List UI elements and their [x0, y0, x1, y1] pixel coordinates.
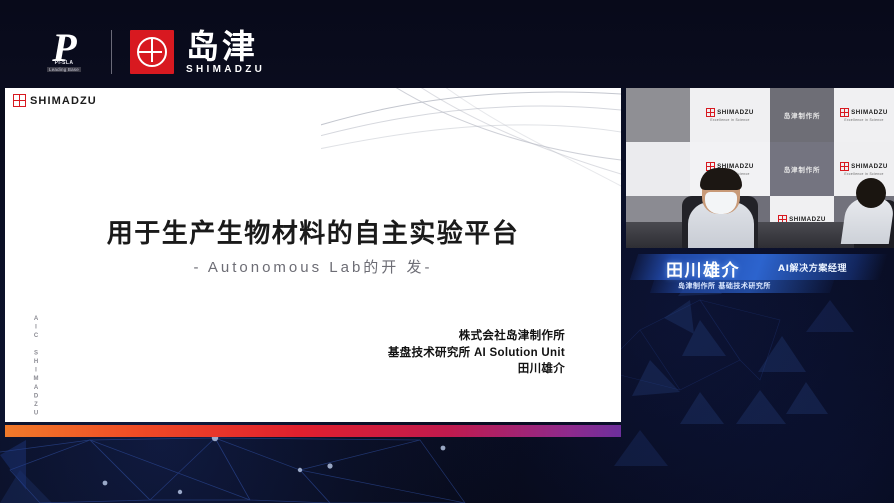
- brand-divider: [111, 30, 112, 74]
- shimadzu-chinese: 岛津: [186, 30, 265, 63]
- slide-title: 用于生产生物材料的自主实验平台: [5, 213, 621, 250]
- slide-subtitle: - Autonomous Lab的开 发-: [5, 256, 621, 277]
- slide-accent-gradient-bar: [5, 425, 621, 437]
- backdrop-logo-sub: Excellence in Science: [844, 118, 883, 122]
- p-logo-sub1: PI-SLA: [55, 60, 74, 66]
- brand-row: P PI-SLA Leading Base 岛津 SHIMADZU: [33, 28, 265, 76]
- backdrop-logo-sub: Excellence in Science: [710, 118, 749, 122]
- backdrop-logo-word: SHIMADZU: [851, 109, 888, 116]
- backdrop-logo-word: SHIMADZU: [717, 109, 754, 116]
- slide-logo-word: SHIMADZU: [30, 95, 97, 107]
- shimadzu-wordmark: 岛津 SHIMADZU: [186, 30, 265, 75]
- attribution-line-2: 基盘技术研究所 AI Solution Unit: [388, 345, 565, 362]
- backdrop-cn-text-2: 岛津制作所: [784, 164, 821, 174]
- speaker-name: 田川雄介: [666, 256, 740, 281]
- speaker-organization: 岛津制作所 基础技术研究所: [678, 281, 771, 291]
- peiking-logo: P PI-SLA Leading Base: [33, 28, 95, 76]
- shimadzu-circle-cross-icon: [130, 30, 174, 74]
- speaker-video-panel[interactable]: SHIMADZU Excellence in Science 岛津制作所 SHI…: [626, 88, 894, 248]
- p-logo-sub2: Leading Base: [47, 67, 81, 72]
- attribution-line-1: 株式会社岛津制作所: [388, 328, 565, 345]
- slide-shimadzu-logo: SHIMADZU: [13, 94, 97, 107]
- speaker-role: AI解决方案经理: [778, 261, 847, 274]
- shimadzu-mark-icon: [13, 94, 26, 107]
- backdrop-logo-word: SHIMADZU: [851, 163, 888, 170]
- shimadzu-english: SHIMADZU: [186, 64, 265, 75]
- attribution-line-3: 田川雄介: [388, 361, 565, 378]
- slide-arc-decoration: [321, 88, 621, 208]
- speaker-nameplate: 田川雄介 AI解决方案经理 岛津制作所 基础技术研究所: [626, 252, 894, 298]
- webinar-stage: P PI-SLA Leading Base 岛津 SHIMADZU: [0, 0, 894, 503]
- speaker-avatar: [688, 170, 754, 248]
- presentation-slide: SHIMADZU AIC SHIMADZU 用于生产生物材料的自主实验平台 - …: [5, 88, 621, 422]
- backdrop-logo-sub: Excellence in Science: [844, 172, 883, 176]
- slide-attribution: 株式会社岛津制作所 基盘技术研究所 AI Solution Unit 田川雄介: [388, 328, 565, 378]
- second-participant-avatar: [840, 182, 892, 244]
- backdrop-cn-text-1: 岛津制作所: [784, 110, 821, 120]
- top-banner: P PI-SLA Leading Base 岛津 SHIMADZU: [0, 0, 894, 88]
- slide-vertical-text: AIC SHIMADZU: [33, 316, 39, 419]
